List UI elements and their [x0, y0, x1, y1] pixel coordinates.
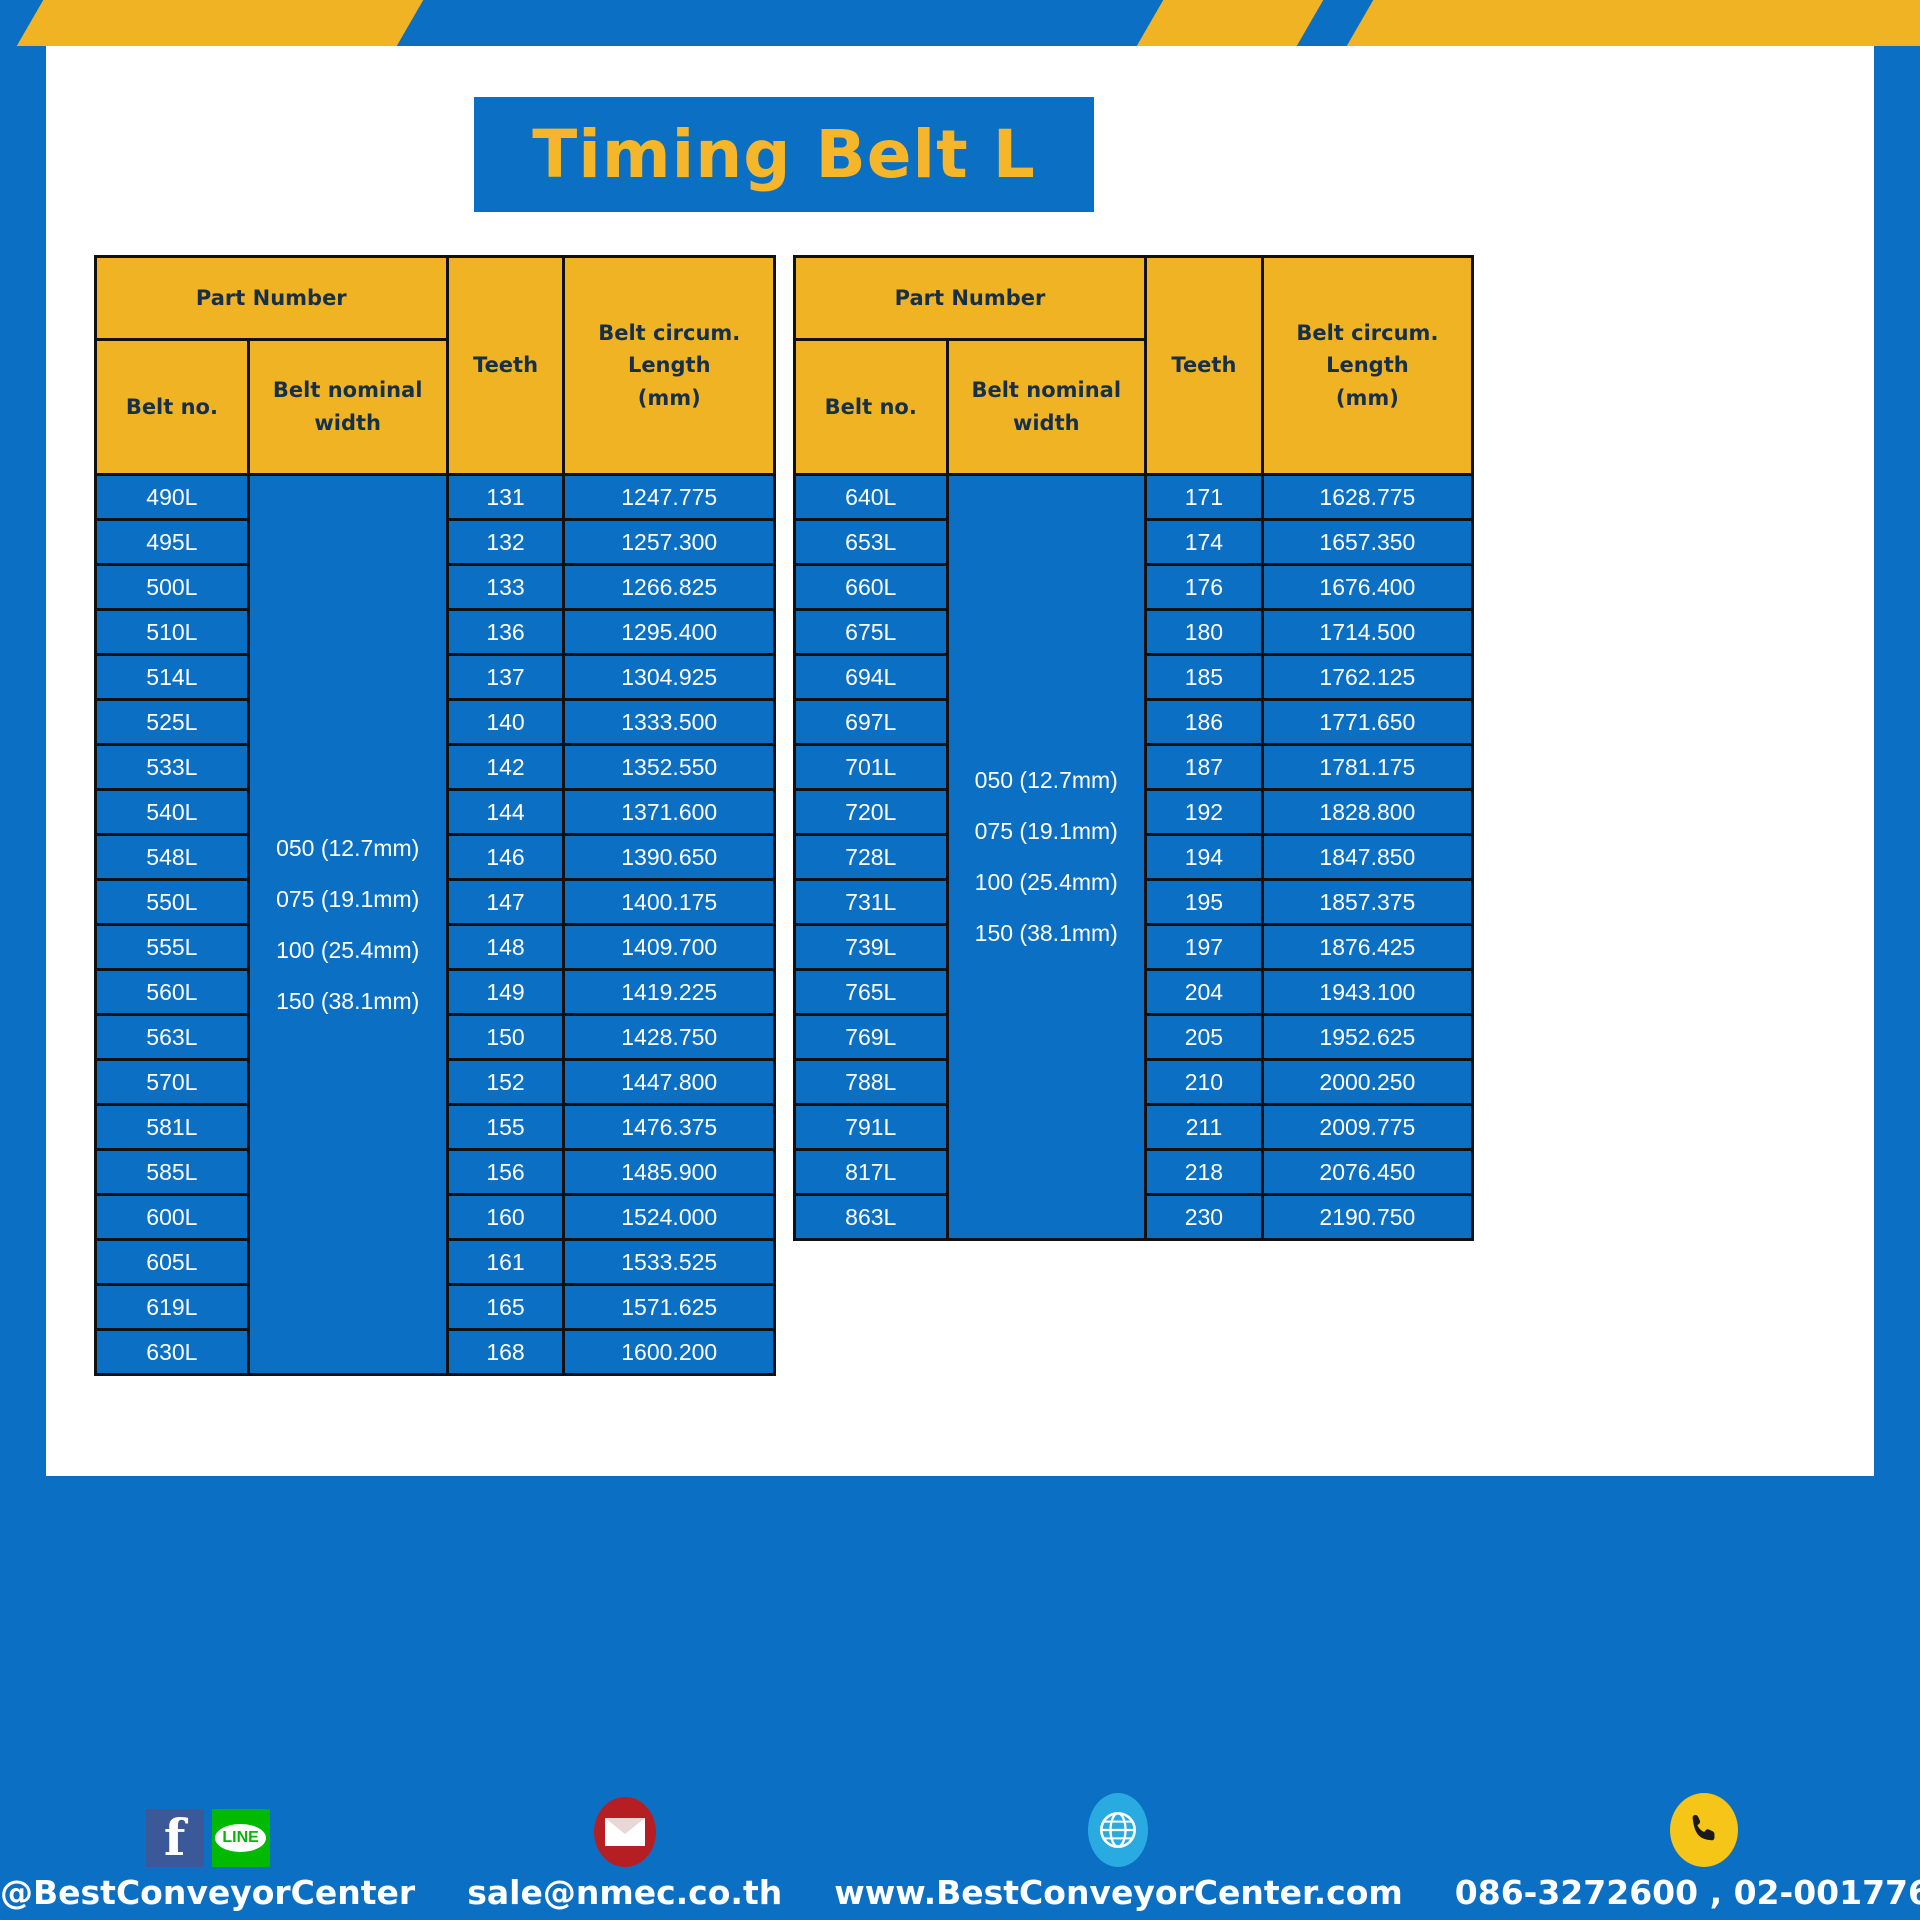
belt-no-cell: 720L	[795, 790, 948, 835]
length-cell: 1533.525	[564, 1240, 775, 1285]
belt-no-cell: 731L	[795, 880, 948, 925]
belt-no-cell: 660L	[795, 565, 948, 610]
belt-no-cell: 490L	[96, 475, 249, 520]
length-cell: 1257.300	[564, 520, 775, 565]
teeth-cell: 147	[447, 880, 564, 925]
header-teeth: Teeth	[447, 257, 564, 475]
length-cell: 1876.425	[1262, 925, 1472, 970]
length-cell: 1857.375	[1262, 880, 1472, 925]
belt-no-cell: 533L	[96, 745, 249, 790]
footer-phone-group[interactable]: 086-3272600 , 02-0017766	[1455, 1790, 1920, 1920]
belt-width-option: 100 (25.4mm)	[949, 857, 1145, 908]
teeth-cell: 156	[447, 1150, 564, 1195]
header-belt-circum-text: Belt circum.	[565, 317, 773, 350]
teeth-cell: 185	[1146, 655, 1263, 700]
belt-no-cell: 560L	[96, 970, 249, 1015]
belt-no-cell: 765L	[795, 970, 948, 1015]
globe-glyph	[1098, 1810, 1138, 1850]
length-cell: 1657.350	[1262, 520, 1472, 565]
table-body-left: 490L050 (12.7mm)075 (19.1mm)100 (25.4mm)…	[96, 475, 775, 1375]
table-row: 490L050 (12.7mm)075 (19.1mm)100 (25.4mm)…	[96, 475, 775, 520]
teeth-cell: 194	[1146, 835, 1263, 880]
length-cell: 1419.225	[564, 970, 775, 1015]
belt-no-cell: 863L	[795, 1195, 948, 1240]
belt-no-cell: 500L	[96, 565, 249, 610]
header-belt-circum-length: Belt circum. Length (mm)	[564, 257, 775, 475]
belt-no-cell: 630L	[96, 1330, 249, 1375]
page-title-text: Timing Belt L	[532, 116, 1036, 193]
header-belt-nominal-line1: Belt nominal	[949, 374, 1145, 407]
length-cell: 1390.650	[564, 835, 775, 880]
header-belt-nominal-line2: width	[250, 407, 446, 440]
globe-icon[interactable]	[1088, 1793, 1148, 1867]
belt-no-cell: 694L	[795, 655, 948, 700]
teeth-cell: 160	[447, 1195, 564, 1240]
belt-no-cell: 675L	[795, 610, 948, 655]
teeth-cell: 142	[447, 745, 564, 790]
teeth-cell: 146	[447, 835, 564, 880]
belt-no-cell: 653L	[795, 520, 948, 565]
belt-no-cell: 510L	[96, 610, 249, 655]
belt-no-cell: 788L	[795, 1060, 948, 1105]
belt-no-cell: 619L	[96, 1285, 249, 1330]
table-row: 640L050 (12.7mm)075 (19.1mm)100 (25.4mm)…	[795, 475, 1473, 520]
teeth-cell: 168	[447, 1330, 564, 1375]
length-cell: 1952.625	[1262, 1015, 1472, 1060]
length-cell: 1447.800	[564, 1060, 775, 1105]
header-mm-text: (mm)	[565, 382, 773, 415]
belt-nominal-width-cell: 050 (12.7mm)075 (19.1mm)100 (25.4mm)150 …	[248, 475, 447, 1375]
line-badge-text: LINE	[215, 1824, 265, 1852]
footer-bar: f LINE @BestConveyorCenter sale@nmec.co.…	[0, 1476, 1920, 1920]
length-cell: 1295.400	[564, 610, 775, 655]
table-header-row-1: Part Number Teeth Belt circum. Length (m…	[795, 257, 1473, 340]
belt-no-cell: 495L	[96, 520, 249, 565]
timing-belt-table-right: Part Number Teeth Belt circum. Length (m…	[793, 255, 1474, 1241]
teeth-cell: 171	[1146, 475, 1263, 520]
belt-no-cell: 525L	[96, 700, 249, 745]
length-cell: 1524.000	[564, 1195, 775, 1240]
belt-no-cell: 585L	[96, 1150, 249, 1195]
length-cell: 1266.825	[564, 565, 775, 610]
teeth-cell: 137	[447, 655, 564, 700]
belt-width-option: 050 (12.7mm)	[949, 755, 1145, 806]
belt-no-cell: 581L	[96, 1105, 249, 1150]
header-belt-no: Belt no.	[795, 340, 948, 475]
teeth-cell: 195	[1146, 880, 1263, 925]
chevron-decoration	[1134, 0, 1325, 46]
teeth-cell: 149	[447, 970, 564, 1015]
teeth-cell: 132	[447, 520, 564, 565]
belt-nominal-width-cell: 050 (12.7mm)075 (19.1mm)100 (25.4mm)150 …	[947, 475, 1146, 1240]
length-cell: 1476.375	[564, 1105, 775, 1150]
belt-no-cell: 600L	[96, 1195, 249, 1240]
teeth-cell: 204	[1146, 970, 1263, 1015]
teeth-cell: 150	[447, 1015, 564, 1060]
chevron-decoration	[234, 0, 425, 46]
teeth-cell: 136	[447, 610, 564, 655]
belt-no-cell: 540L	[96, 790, 249, 835]
belt-no-cell: 769L	[795, 1015, 948, 1060]
length-cell: 1247.775	[564, 475, 775, 520]
header-belt-nominal-width: Belt nominal width	[947, 340, 1146, 475]
length-cell: 1676.400	[1262, 565, 1472, 610]
teeth-cell: 148	[447, 925, 564, 970]
teeth-cell: 197	[1146, 925, 1263, 970]
length-cell: 1485.900	[564, 1150, 775, 1195]
header-part-number: Part Number	[795, 257, 1146, 340]
header-length-text: Length	[565, 349, 773, 382]
top-chevron-band	[0, 0, 1920, 46]
belt-no-cell: 605L	[96, 1240, 249, 1285]
length-cell: 1771.650	[1262, 700, 1472, 745]
belt-width-option: 075 (19.1mm)	[250, 874, 446, 925]
footer-email-group[interactable]: sale@nmec.co.th	[467, 1790, 782, 1920]
belt-no-cell: 791L	[795, 1105, 948, 1150]
teeth-cell: 230	[1146, 1195, 1263, 1240]
header-mm-text: (mm)	[1264, 382, 1471, 415]
website-url[interactable]: www.BestConveyorCenter.com	[834, 1873, 1403, 1912]
belt-no-cell: 728L	[795, 835, 948, 880]
teeth-cell: 211	[1146, 1105, 1263, 1150]
teeth-cell: 205	[1146, 1015, 1263, 1060]
header-belt-circum-text: Belt circum.	[1264, 317, 1471, 350]
footer-social-group[interactable]: f LINE @BestConveyorCenter	[0, 1790, 415, 1920]
length-cell: 1600.200	[564, 1330, 775, 1375]
phone-glyph	[1685, 1811, 1723, 1849]
teeth-cell: 210	[1146, 1060, 1263, 1105]
belt-no-cell: 563L	[96, 1015, 249, 1060]
belt-no-cell: 550L	[96, 880, 249, 925]
teeth-cell: 174	[1146, 520, 1263, 565]
table-body-right: 640L050 (12.7mm)075 (19.1mm)100 (25.4mm)…	[795, 475, 1473, 1240]
email-address[interactable]: sale@nmec.co.th	[467, 1873, 782, 1912]
header-belt-nominal-width: Belt nominal width	[248, 340, 447, 475]
length-cell: 2076.450	[1262, 1150, 1472, 1195]
header-part-number: Part Number	[96, 257, 448, 340]
line-icon[interactable]: LINE	[212, 1809, 270, 1867]
belt-no-cell: 697L	[795, 700, 948, 745]
teeth-cell: 140	[447, 700, 564, 745]
teeth-cell: 133	[447, 565, 564, 610]
belt-no-cell: 701L	[795, 745, 948, 790]
header-belt-nominal-line2: width	[949, 407, 1145, 440]
table-header-row-1: Part Number Teeth Belt circum. Length (m…	[96, 257, 775, 340]
length-cell: 1781.175	[1262, 745, 1472, 790]
footer-website-group[interactable]: www.BestConveyorCenter.com	[834, 1790, 1403, 1920]
length-cell: 1371.600	[564, 790, 775, 835]
page-title: Timing Belt L	[474, 97, 1094, 212]
belt-no-cell: 739L	[795, 925, 948, 970]
belt-no-cell: 640L	[795, 475, 948, 520]
belt-width-option: 075 (19.1mm)	[949, 806, 1145, 857]
header-teeth: Teeth	[1146, 257, 1263, 475]
timing-belt-table-left: Part Number Teeth Belt circum. Length (m…	[94, 255, 776, 1376]
belt-no-cell: 548L	[96, 835, 249, 880]
length-cell: 1762.125	[1262, 655, 1472, 700]
belt-width-option: 050 (12.7mm)	[250, 823, 446, 874]
facebook-handle[interactable]: @BestConveyorCenter	[0, 1873, 415, 1912]
belt-no-cell: 555L	[96, 925, 249, 970]
teeth-cell: 152	[447, 1060, 564, 1105]
length-cell: 1714.500	[1262, 610, 1472, 655]
length-cell: 2000.250	[1262, 1060, 1472, 1105]
length-cell: 1571.625	[564, 1285, 775, 1330]
chevron-decoration	[1764, 0, 1920, 46]
header-length-text: Length	[1264, 349, 1471, 382]
teeth-cell: 192	[1146, 790, 1263, 835]
belt-width-option: 150 (38.1mm)	[250, 976, 446, 1027]
belt-width-option: 150 (38.1mm)	[949, 908, 1145, 959]
length-cell: 1400.175	[564, 880, 775, 925]
teeth-cell: 165	[447, 1285, 564, 1330]
belt-width-option: 100 (25.4mm)	[250, 925, 446, 976]
belt-no-cell: 570L	[96, 1060, 249, 1105]
header-belt-circum-length: Belt circum. Length (mm)	[1262, 257, 1472, 475]
teeth-cell: 131	[447, 475, 564, 520]
length-cell: 1628.775	[1262, 475, 1472, 520]
phone-number[interactable]: 086-3272600 , 02-0017766	[1455, 1873, 1920, 1912]
header-belt-no: Belt no.	[96, 340, 249, 475]
belt-no-cell: 817L	[795, 1150, 948, 1195]
belt-no-cell: 514L	[96, 655, 249, 700]
teeth-cell: 218	[1146, 1150, 1263, 1195]
teeth-cell: 187	[1146, 745, 1263, 790]
length-cell: 1428.750	[564, 1015, 775, 1060]
length-cell: 1828.800	[1262, 790, 1472, 835]
teeth-cell: 186	[1146, 700, 1263, 745]
length-cell: 1409.700	[564, 925, 775, 970]
phone-icon[interactable]	[1670, 1793, 1738, 1867]
length-cell: 1352.550	[564, 745, 775, 790]
facebook-icon[interactable]: f	[146, 1809, 204, 1867]
teeth-cell: 180	[1146, 610, 1263, 655]
teeth-cell: 161	[447, 1240, 564, 1285]
teeth-cell: 144	[447, 790, 564, 835]
teeth-cell: 176	[1146, 565, 1263, 610]
email-icon[interactable]	[594, 1797, 656, 1867]
length-cell: 2190.750	[1262, 1195, 1472, 1240]
header-belt-nominal-line1: Belt nominal	[250, 374, 446, 407]
length-cell: 1304.925	[564, 655, 775, 700]
length-cell: 1333.500	[564, 700, 775, 745]
length-cell: 1943.100	[1262, 970, 1472, 1015]
length-cell: 2009.775	[1262, 1105, 1472, 1150]
teeth-cell: 155	[447, 1105, 564, 1150]
length-cell: 1847.850	[1262, 835, 1472, 880]
